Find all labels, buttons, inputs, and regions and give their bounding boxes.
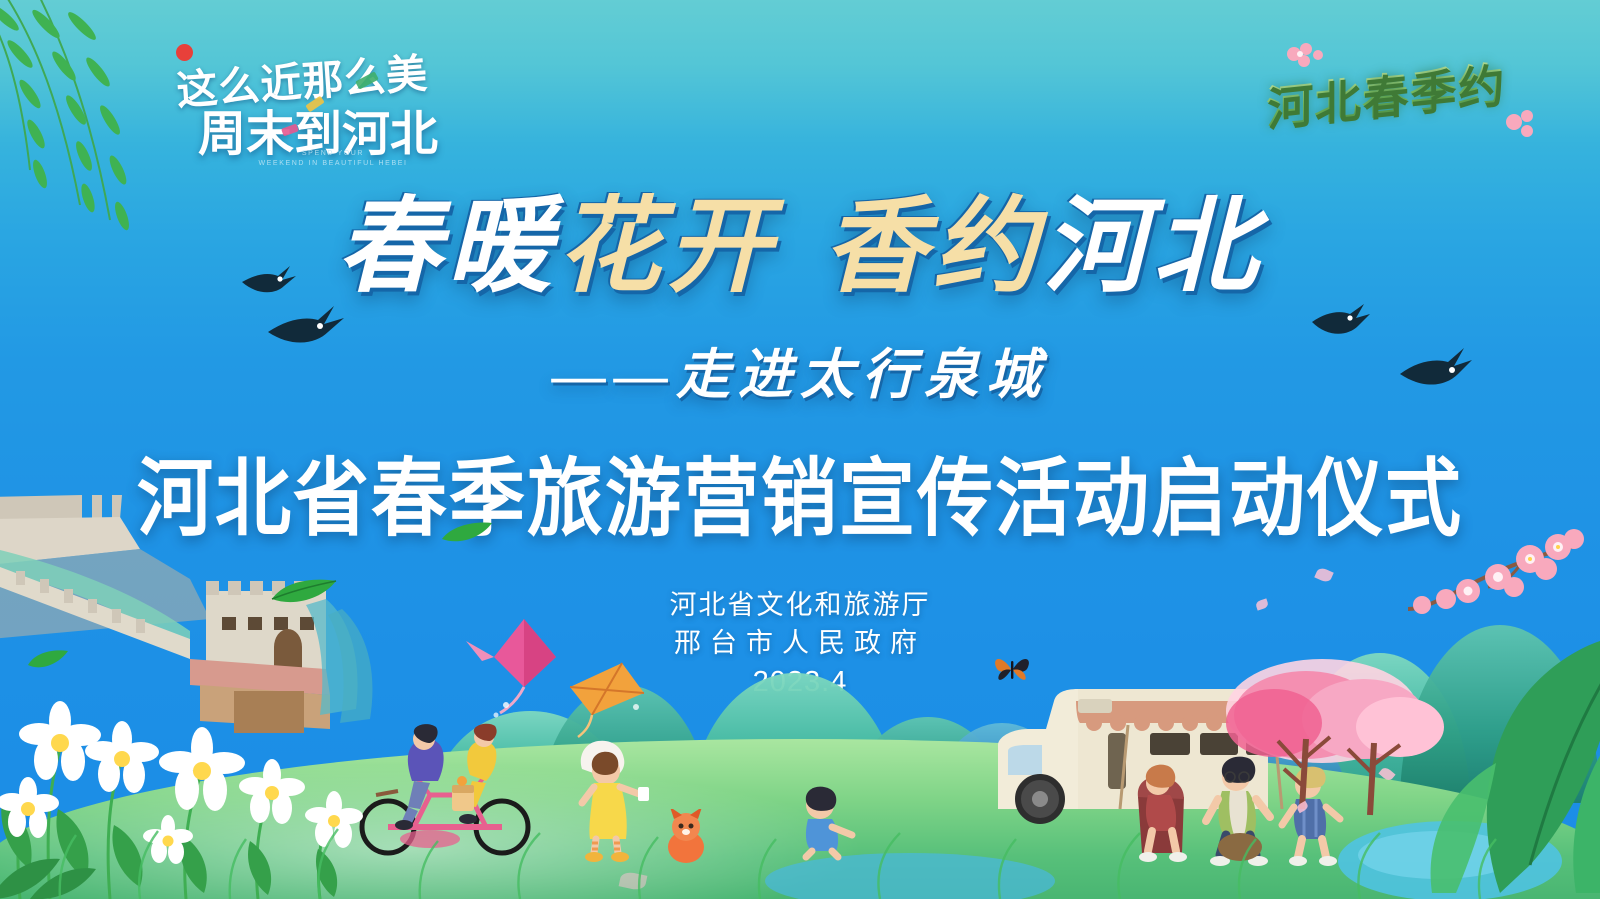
pond-illustration — [1330, 795, 1580, 899]
logo-left-english-line2: WEEKEND IN BEAUTIFUL HEBEI — [218, 159, 448, 169]
girl-in-yellow-dress — [568, 733, 658, 863]
hill-center-left — [430, 711, 630, 815]
headline-part3: 香约 — [823, 190, 1043, 305]
headline-part2: 花开 — [557, 190, 777, 305]
poster-headline: 春暖花开香约河北 — [0, 196, 1600, 300]
grass-ground — [0, 739, 1600, 899]
petal-1 — [1314, 566, 1333, 583]
foreground-grass — [0, 809, 1600, 899]
organizer-block: 河北省文化和旅游厅 邢台市人民政府 2023.4 — [0, 586, 1600, 702]
petal-4 — [1296, 801, 1310, 813]
hill-far-right-c — [1236, 729, 1346, 799]
woman-sitting-on-chair — [1128, 757, 1198, 867]
organizer-line-2: 邢台市人民政府 — [0, 624, 1600, 662]
hill-right-blue — [932, 723, 1072, 809]
logo-left-english-line1: SPEND YOUR — [218, 149, 448, 159]
toy-dog-illustration — [656, 809, 716, 867]
man-sitting-on-log — [1200, 751, 1280, 871]
blossom-sprig-icon — [1274, 40, 1344, 86]
boy-sitting-on-stool — [1276, 759, 1346, 869]
logo-left-english: SPEND YOUR WEEKEND IN BEAUTIFUL HEBEI — [218, 149, 448, 169]
tandem-bike-riders — [352, 723, 552, 863]
spring-tourism-poster: 这么近那么美 周末到河北 SPEND YOUR WEEKEND IN BEAUT… — [0, 0, 1600, 899]
event-title: 河北省春季旅游营销宣传活动启动仪式 — [0, 429, 1600, 552]
petal-3 — [1378, 766, 1395, 783]
hill-right-mid — [848, 717, 1008, 815]
organizer-date: 2023.4 — [0, 662, 1600, 702]
headline-part1: 春暖 — [337, 190, 557, 305]
boy-sitting-by-water — [790, 783, 860, 863]
headline-part4: 河北 — [1043, 190, 1263, 305]
blossom-sprig-right-icon — [1494, 100, 1554, 148]
petal-5 — [619, 870, 648, 891]
brand-logo-left: 这么近那么美 周末到河北 SPEND YOUR WEEKEND IN BEAUT… — [160, 42, 480, 182]
hill-center — [540, 685, 710, 815]
poster-subline: ——走进太行泉城 — [0, 330, 1600, 409]
organizer-line-1: 河北省文化和旅游厅 — [0, 586, 1600, 624]
brand-logo-right: 河北春季约 — [1258, 48, 1528, 140]
stream-illustration — [760, 819, 1060, 899]
